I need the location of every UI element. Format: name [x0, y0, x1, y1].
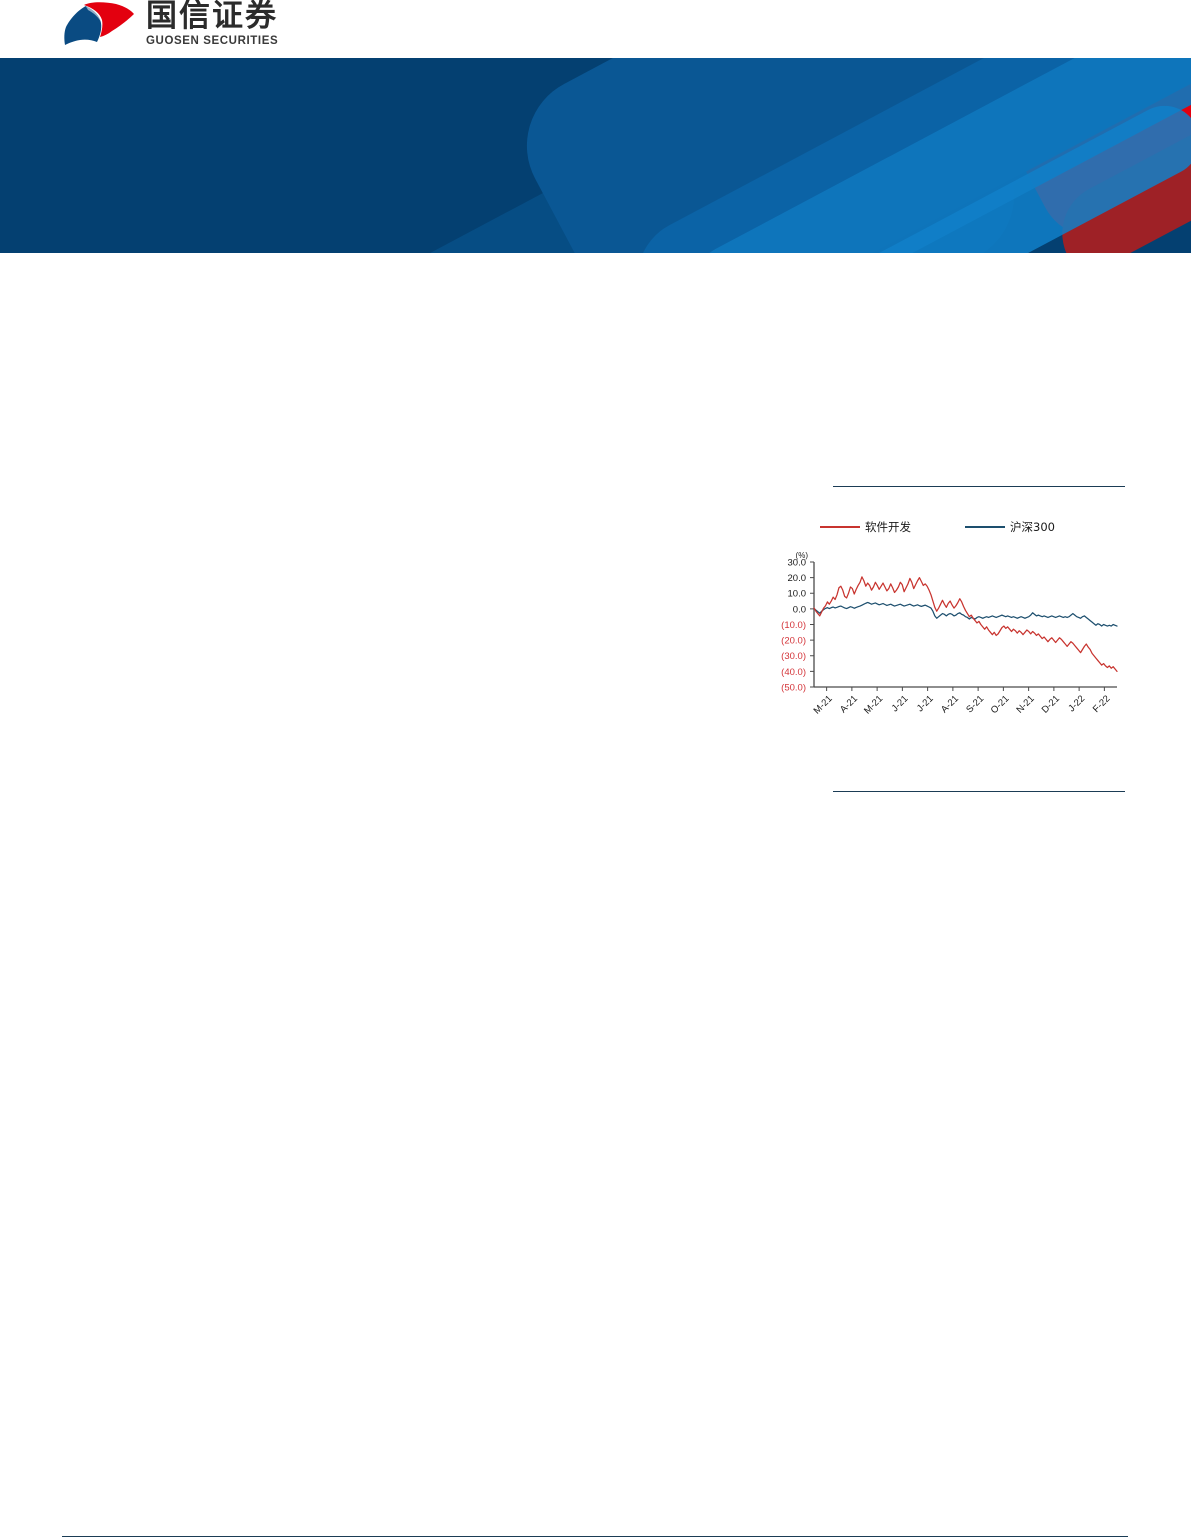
y-axis-tick-label: 20.0: [788, 573, 807, 584]
x-axis-tick-label: A-21: [838, 693, 860, 715]
company-logo: 国信证券 GUOSEN SECURITIES: [62, 1, 278, 48]
report-page: 国信证券 GUOSEN SECURITIES 软件开发 沪深300 (%)30.…: [0, 0, 1191, 1540]
series-line-csi300: [814, 602, 1117, 626]
chart-legend: 软件开发 沪深300: [820, 519, 1130, 535]
legend-line-icon-software: [820, 526, 860, 528]
x-axis-tick-label: O-21: [989, 693, 1012, 716]
company-name-en: GUOSEN SECURITIES: [146, 36, 278, 48]
y-axis-tick-label: 10.0: [788, 589, 807, 600]
x-axis-tick-label: J-21: [890, 693, 911, 714]
series-line-software: [814, 577, 1117, 672]
y-axis-tick-label: (10.0): [781, 620, 806, 631]
y-axis-tick-label: 0.0: [793, 604, 806, 615]
x-axis-tick-label: D-21: [1040, 693, 1062, 715]
x-axis-tick-label: J-21: [915, 693, 936, 714]
legend-label-csi300: 沪深300: [1010, 519, 1055, 535]
x-axis-tick-label: M-21: [812, 693, 835, 716]
masthead: 国信证券 GUOSEN SECURITIES: [0, 0, 1191, 56]
x-axis-tick-label: J-22: [1066, 693, 1087, 714]
guosen-logo-mark: [62, 1, 136, 47]
x-axis-tick-label: S-21: [964, 693, 986, 715]
x-axis-tick-label: M-21: [862, 693, 885, 716]
legend-item-csi300: 沪深300: [965, 519, 1055, 535]
legend-item-software: 软件开发: [820, 519, 911, 535]
footer-rule: [62, 1536, 1128, 1537]
y-axis-tick-label: (50.0): [781, 682, 806, 693]
company-name-cn: 国信证券: [146, 1, 278, 32]
y-axis-tick-label: (30.0): [781, 651, 806, 662]
x-axis-tick-label: A-21: [939, 693, 961, 715]
x-axis-tick-label: N-21: [1014, 693, 1036, 715]
legend-label-software: 软件开发: [865, 519, 911, 535]
figure-bottom-rule: [833, 791, 1125, 792]
relative-performance-chart: (%)30.020.010.00.0(10.0)(20.0)(30.0)(40.…: [760, 548, 1132, 753]
y-axis-tick-label: (20.0): [781, 636, 806, 647]
figure-top-rule: [833, 486, 1125, 487]
decorative-banner: [0, 58, 1191, 253]
logo-wordmark: 国信证券 GUOSEN SECURITIES: [146, 1, 278, 48]
chart-svg: (%)30.020.010.00.0(10.0)(20.0)(30.0)(40.…: [760, 548, 1132, 753]
x-axis-tick-label: F-22: [1091, 693, 1113, 715]
y-axis-tick-label: 30.0: [788, 557, 807, 568]
y-axis-tick-label: (40.0): [781, 667, 806, 678]
figure-top-rule-container: [833, 486, 1125, 487]
legend-line-icon-csi300: [965, 526, 1005, 528]
